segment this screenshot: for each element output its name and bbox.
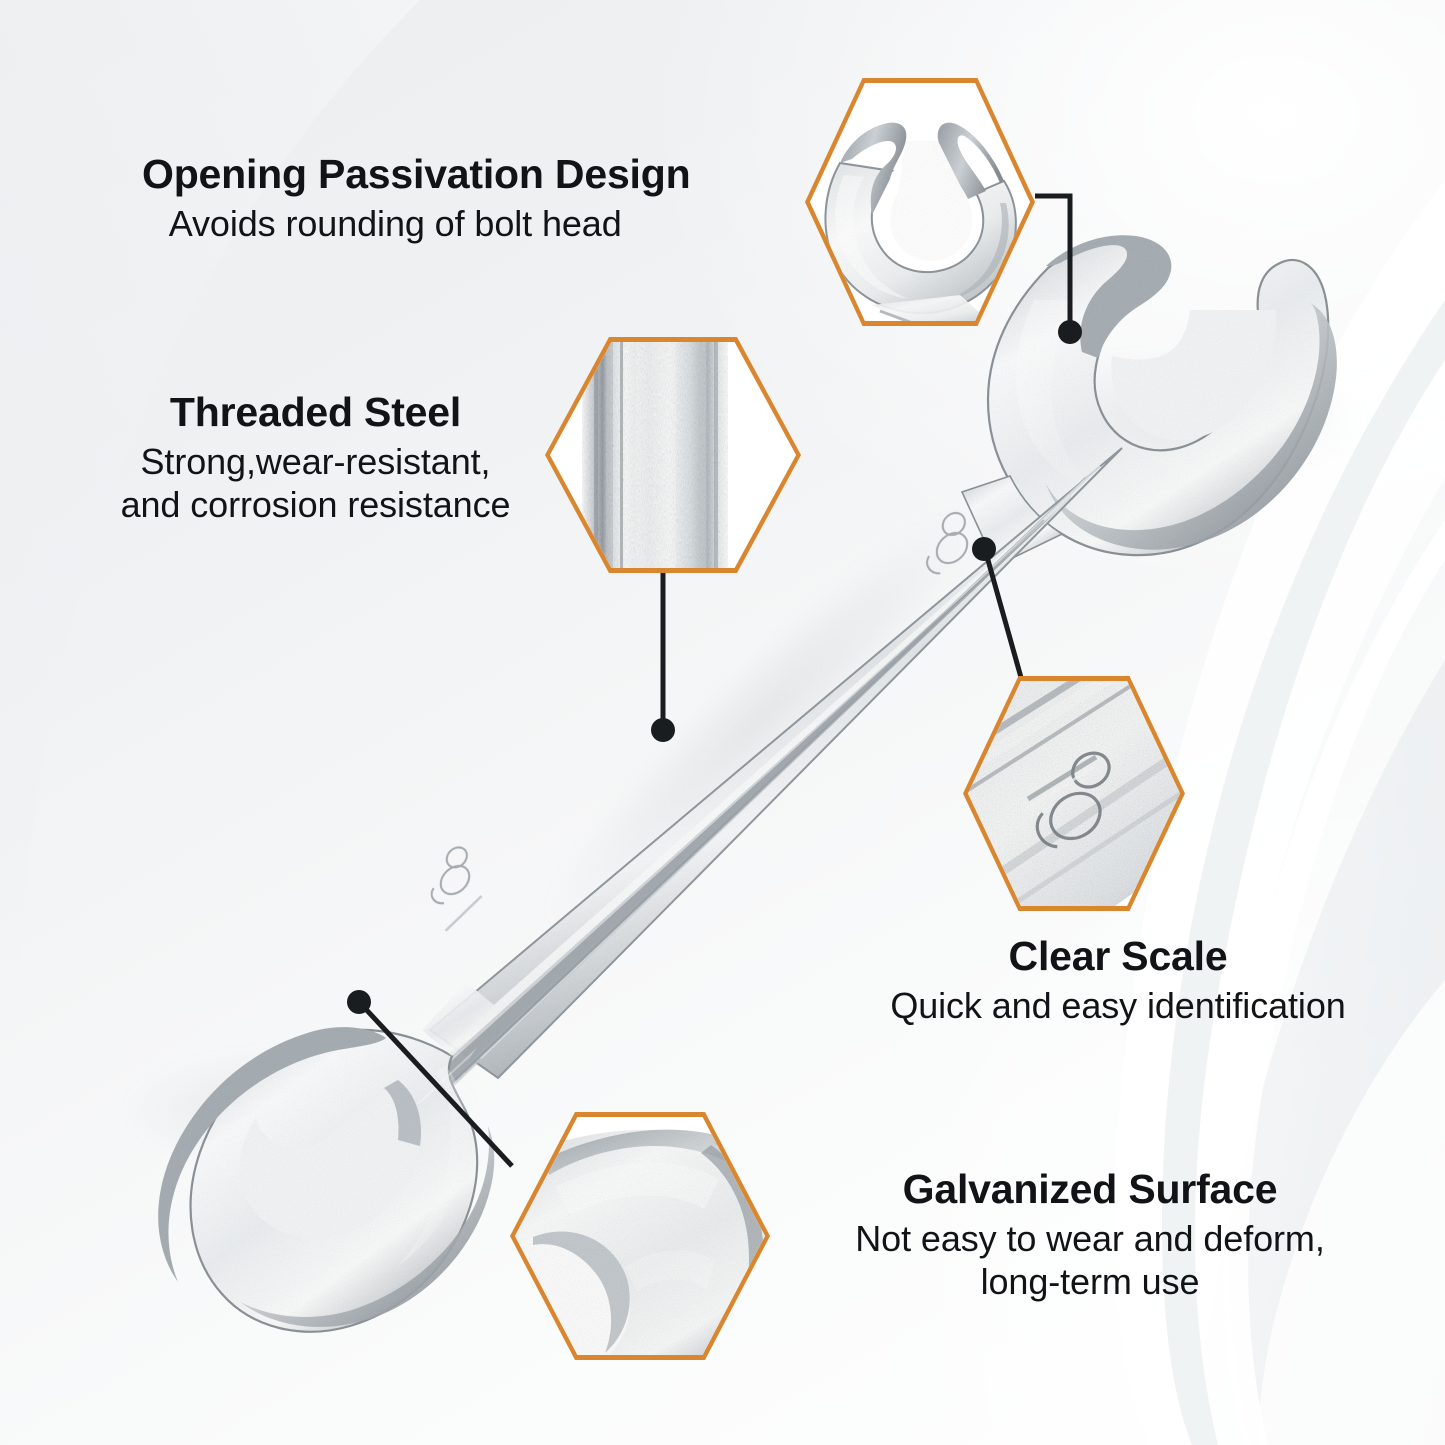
hex-image-brushed-steel-shaft-closeup	[550, 342, 796, 568]
connector-dot-galvanized	[347, 990, 371, 1014]
callout-subtitle-line: and corrosion resistance	[88, 484, 543, 526]
callout-text-clear-scale: Clear Scale Quick and easy identificatio…	[848, 932, 1388, 1028]
callout-subtitle: Not easy to wear and deform, long-term u…	[790, 1218, 1390, 1303]
callout-title: Threaded Steel	[88, 388, 543, 436]
hex-image-stamped-size-marking-closeup	[968, 681, 1180, 906]
callout-subtitle-line: Quick and easy identification	[848, 985, 1388, 1027]
callout-subtitle-line: long-term use	[790, 1261, 1390, 1303]
connector-dot-threaded	[651, 718, 675, 742]
callout-text-opening-passivation: Opening Passivation Design Avoids roundi…	[142, 150, 690, 246]
connector-line-clear	[986, 553, 1022, 681]
hex-image-galvanized-surface-closeup	[515, 1117, 765, 1355]
connector-dot-clear	[972, 537, 996, 561]
connector-dot-opening	[1058, 320, 1082, 344]
callout-subtitle: Quick and easy identification	[848, 985, 1388, 1027]
callout-title: Clear Scale	[848, 932, 1388, 980]
hex-callout-opening-passivation	[805, 78, 1035, 326]
callout-text-threaded-steel: Threaded Steel Strong,wear-resistant, an…	[88, 388, 543, 526]
callout-subtitle: Strong,wear-resistant, and corrosion res…	[88, 441, 543, 526]
hex-callout-clear-scale	[963, 676, 1185, 911]
callout-subtitle-line: Strong,wear-resistant,	[88, 441, 543, 483]
connector-line-opening	[1035, 196, 1070, 332]
hex-callout-threaded-steel	[545, 337, 801, 573]
callout-title: Opening Passivation Design	[142, 150, 690, 198]
connector-line-galvanized	[361, 1004, 512, 1166]
callout-title: Galvanized Surface	[790, 1165, 1390, 1213]
callout-subtitle-line: Not easy to wear and deform,	[790, 1218, 1390, 1260]
hex-callout-galvanized-surface	[510, 1112, 770, 1360]
callout-subtitle: Avoids rounding of bolt head	[142, 203, 690, 245]
callout-text-galvanized-surface: Galvanized Surface Not easy to wear and …	[790, 1165, 1390, 1303]
callout-subtitle-line: Avoids rounding of bolt head	[142, 203, 648, 245]
hex-image-wrench-jaw-closeup	[810, 83, 1030, 321]
product-feature-infographic: Opening Passivation Design Avoids roundi…	[0, 0, 1445, 1445]
